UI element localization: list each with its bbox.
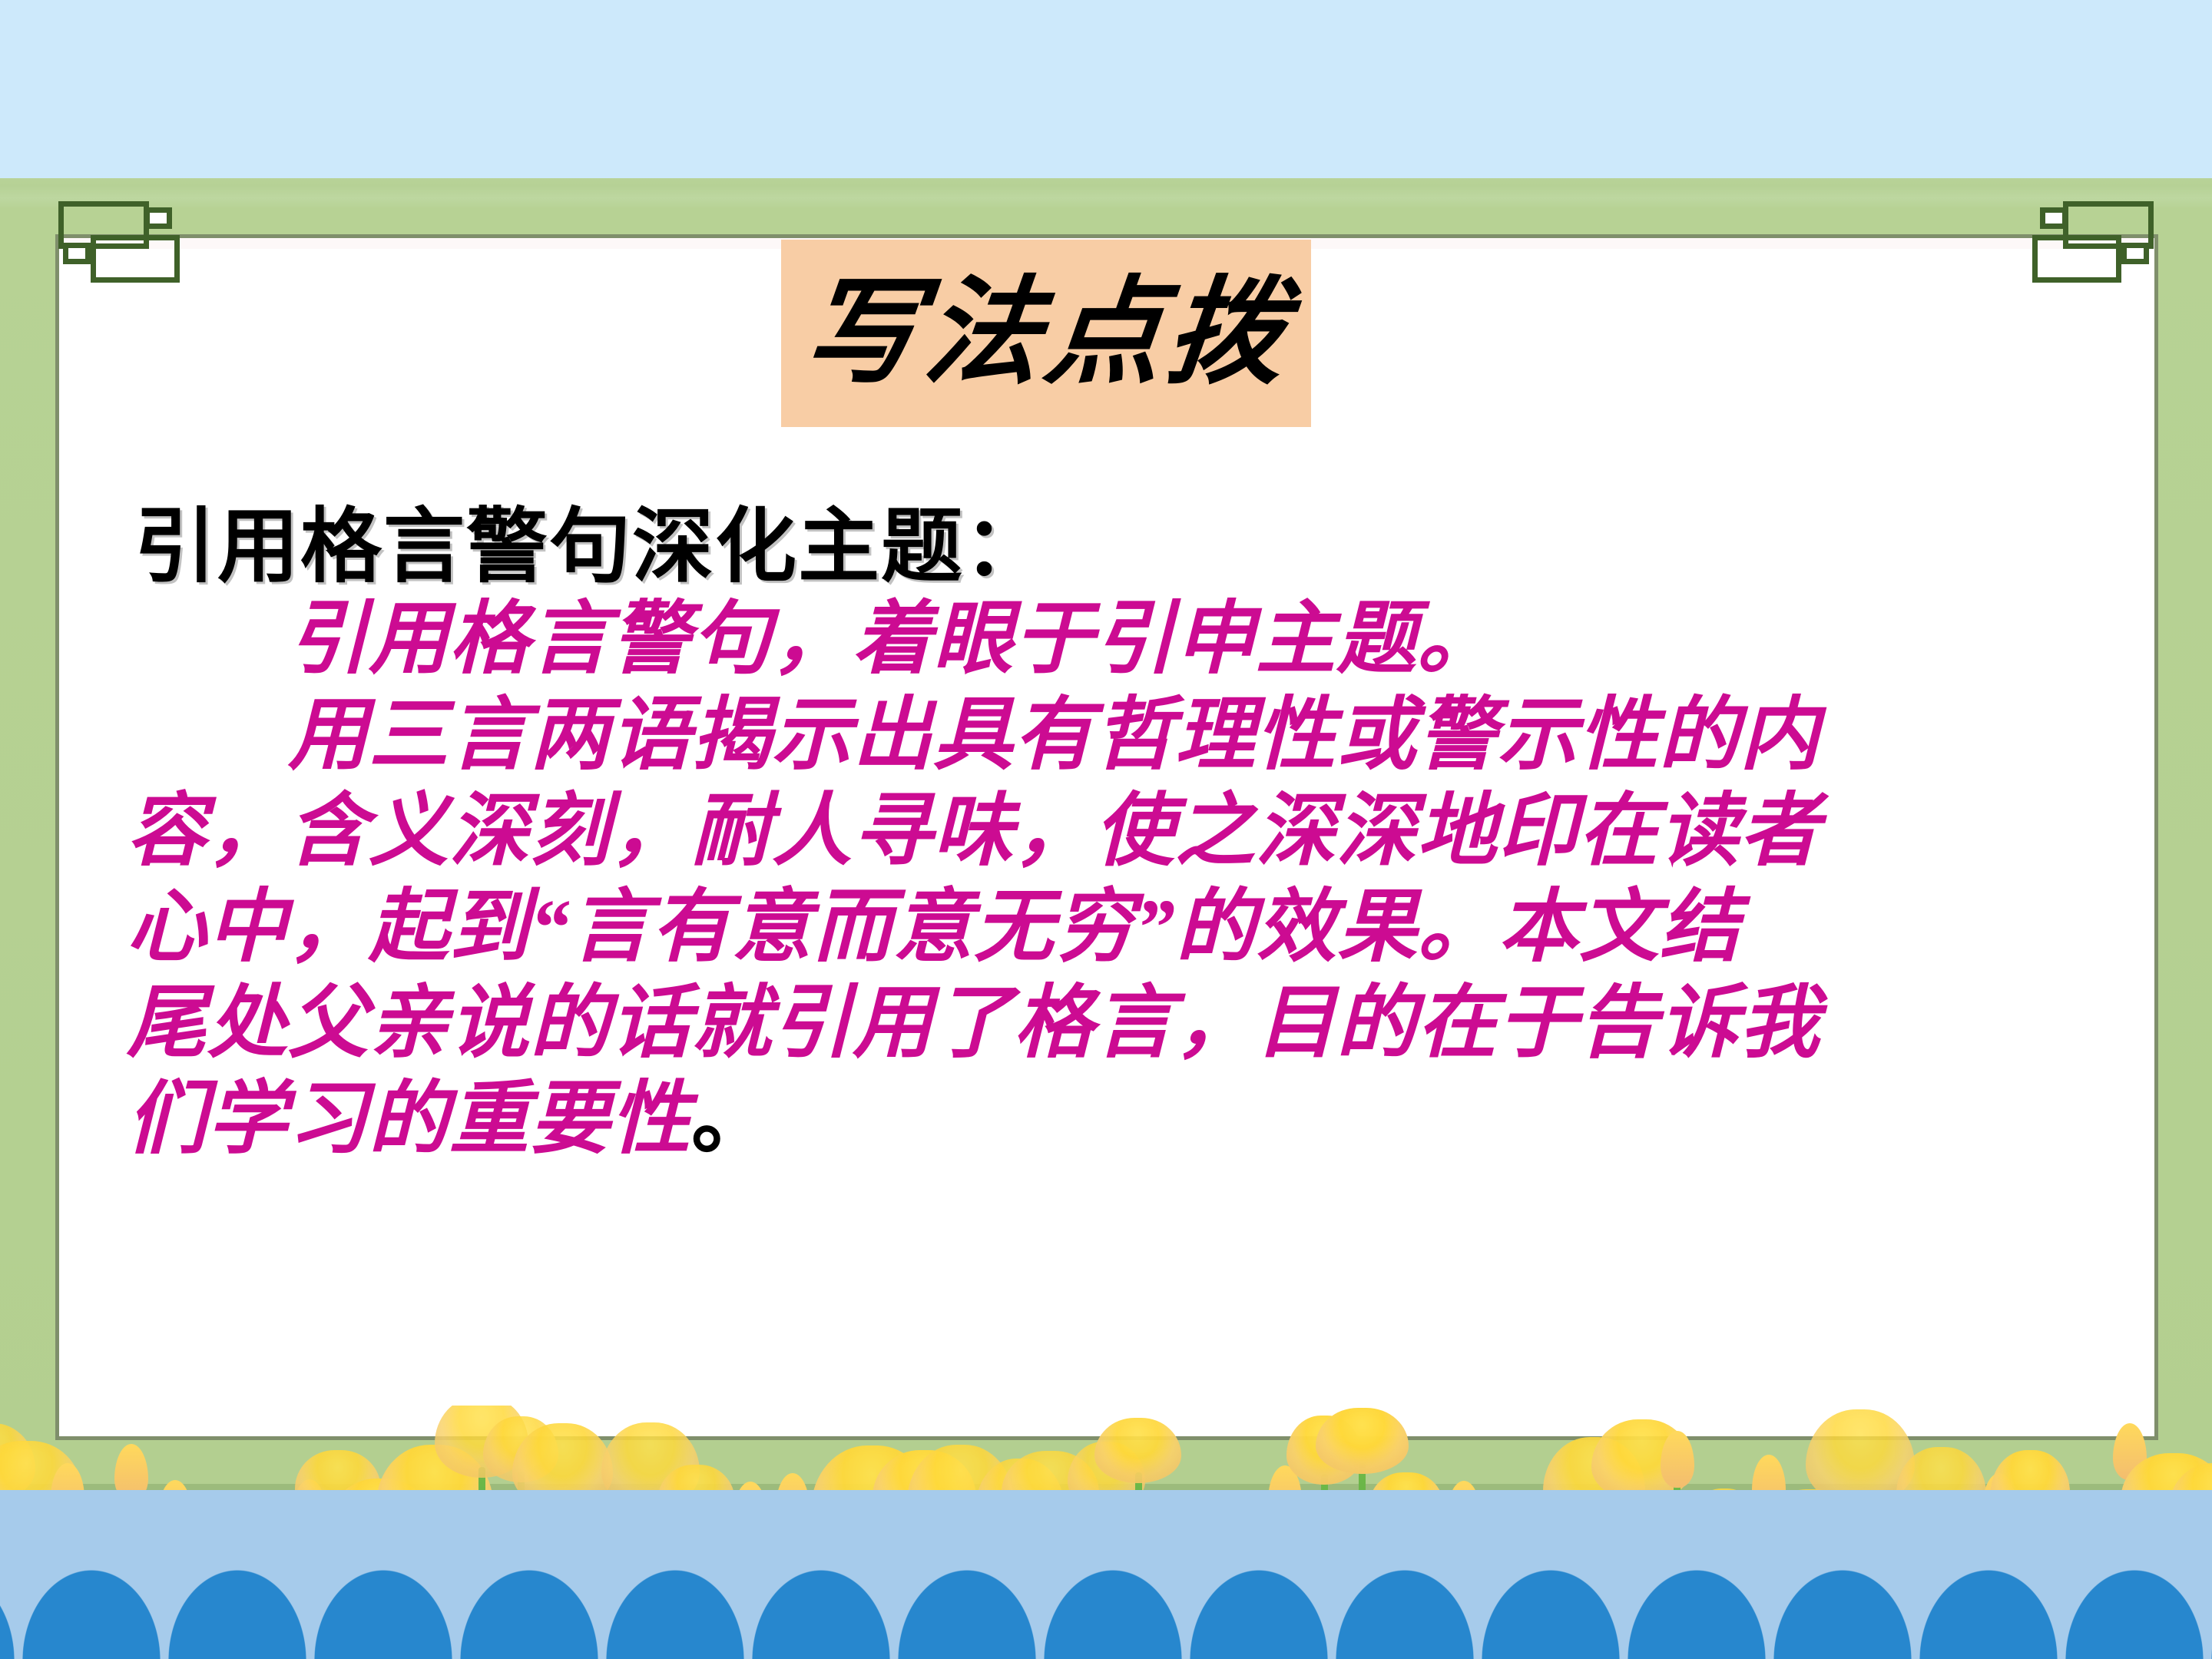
ornament-square-1 xyxy=(2040,207,2068,229)
ornament-rect-2 xyxy=(91,235,180,283)
body-line-1: 引用格言警句，着眼于引申主题。 xyxy=(127,591,2062,687)
flower-bud xyxy=(1661,1431,1694,1488)
body-line-2: 用三言两语揭示出具有哲理性或警示性的内 xyxy=(127,687,2062,783)
footer-scallop-band xyxy=(0,1490,2212,1659)
body-line-4: 心中，起到“言有意而意无穷”的效果。本文结 xyxy=(127,879,2062,975)
body-line-6: 们学习的重要性。 xyxy=(127,1071,2062,1167)
flower-bloom xyxy=(1316,1408,1408,1475)
body-line-5: 尾处父亲说的话就引用了格言，目的在于告诉我 xyxy=(127,975,2062,1071)
body-end-period: 。 xyxy=(691,1075,772,1164)
top-blue-band xyxy=(0,0,2212,178)
corner-ornament-top-right-icon xyxy=(2041,187,2184,303)
flower-bloom xyxy=(1094,1418,1181,1483)
ornament-square-2 xyxy=(63,243,91,264)
ornament-square-2 xyxy=(2121,243,2149,264)
body-line-3: 容，含义深刻，耐人寻味，使之深深地印在读者 xyxy=(127,783,2062,879)
ornament-rect-2 xyxy=(2032,235,2121,283)
body-line-6-text: 们学习的重要性 xyxy=(127,1075,691,1164)
title-banner: 写法点拨 xyxy=(781,240,1311,427)
section-heading: 引用格言警句深化主题： xyxy=(134,480,1047,598)
body-paragraphs: 引用格言警句，着眼于引申主题。 用三言两语揭示出具有哲理性或警示性的内 容，含义… xyxy=(127,591,2062,1167)
page-title: 写法点拨 xyxy=(797,275,1295,392)
corner-ornament-top-left-icon xyxy=(28,187,171,303)
slide: 写法点拨 引用格言警句深化主题： 引用格言警句，着眼于引申主题。 用三言两语揭示… xyxy=(0,0,2212,1659)
scallop-row-2 xyxy=(0,1605,2212,1659)
ornament-square-1 xyxy=(144,207,172,229)
